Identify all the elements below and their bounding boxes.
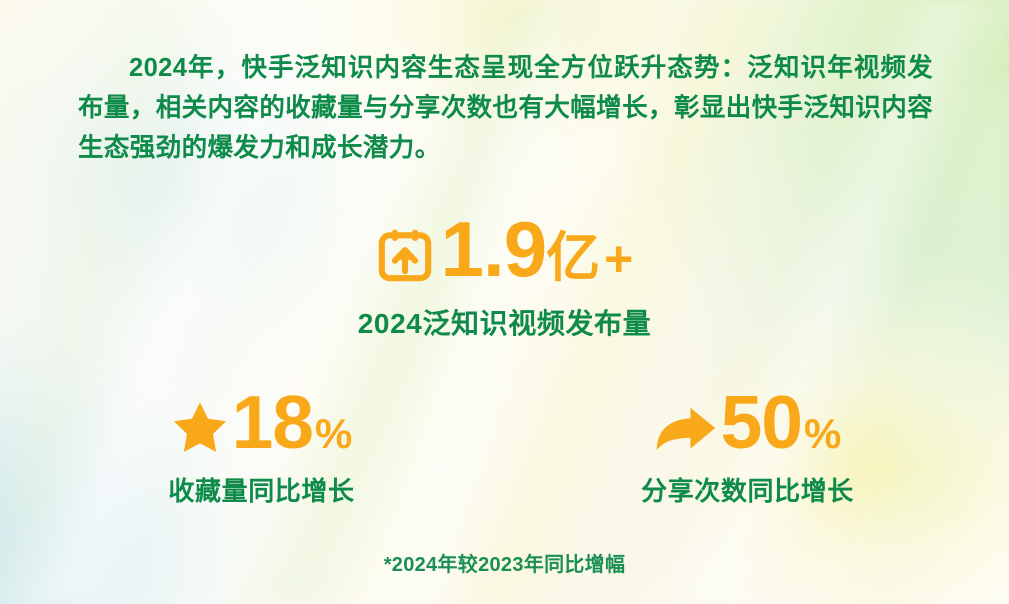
stat-card-favorites: 18% 收藏量同比增长 xyxy=(112,382,412,508)
hero-stat-value: 1.9亿+ xyxy=(441,214,633,286)
hero-stat-number: 1.9 xyxy=(441,205,546,293)
calendar-upload-icon xyxy=(377,227,433,283)
stat-shares-number: 50 xyxy=(721,380,802,464)
hero-stat-block: 1.9亿+ 2024泛知识视频发布量 xyxy=(0,208,1009,342)
stat-shares-value: 50% xyxy=(721,388,841,457)
stat-favorites-unit: % xyxy=(315,410,351,457)
stat-favorites-number: 18 xyxy=(232,380,313,464)
footnote-text: *2024年较2023年同比增幅 xyxy=(0,548,1009,577)
stat-favorites-label: 收藏量同比增长 xyxy=(112,471,412,508)
sub-stats-row: 18% 收藏量同比增长 50% 分享次数同比增长 xyxy=(0,382,1009,508)
hero-stat-label: 2024泛知识视频发布量 xyxy=(0,302,1009,342)
intro-paragraph: 2024年，快手泛知识内容生态呈现全方位跃升态势：泛知识年视频发布量，相关内容的… xyxy=(78,48,933,168)
stat-shares-unit: % xyxy=(804,410,840,457)
hero-stat-unit: 亿 xyxy=(546,228,600,288)
hero-stat-row: 1.9亿+ xyxy=(0,208,1009,292)
infographic-canvas: 2024年，快手泛知识内容生态呈现全方位跃升态势：泛知识年视频发布量，相关内容的… xyxy=(0,0,1009,604)
stat-shares-label: 分享次数同比增长 xyxy=(598,471,898,508)
stat-favorites-value: 18% xyxy=(232,388,352,457)
star-icon xyxy=(172,399,228,453)
stat-favorites-row: 18% xyxy=(112,382,412,462)
stat-card-shares: 50% 分享次数同比增长 xyxy=(598,382,898,508)
stat-shares-row: 50% xyxy=(598,382,898,462)
content-wrapper: 2024年，快手泛知识内容生态呈现全方位跃升态势：泛知识年视频发布量，相关内容的… xyxy=(0,0,1009,604)
share-arrow-icon xyxy=(655,402,717,456)
hero-stat-suffix: + xyxy=(604,231,632,287)
